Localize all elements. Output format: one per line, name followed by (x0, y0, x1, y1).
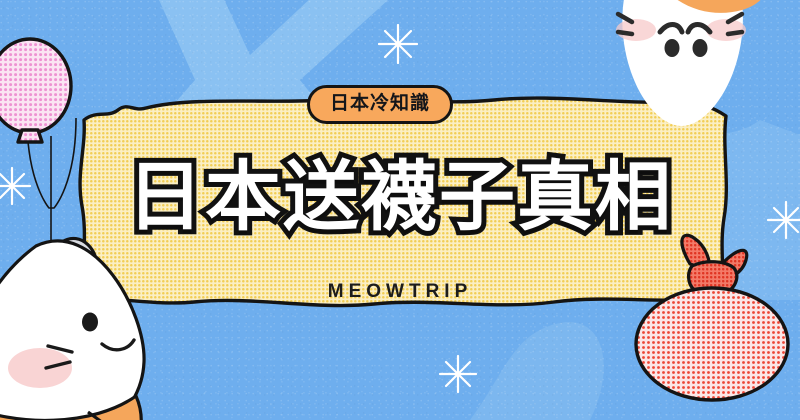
poster-canvas: 日本冷知識 日本送襪子真相 MEOWTRIP (0, 0, 800, 420)
page-title: 日本送襪子真相 (0, 160, 800, 236)
category-badge[interactable]: 日本冷知識 (307, 85, 453, 124)
cat-head-bottom-left-icon (0, 236, 216, 420)
cat-face-top-right-icon (630, 0, 800, 134)
gift-bundle-icon (622, 236, 800, 416)
